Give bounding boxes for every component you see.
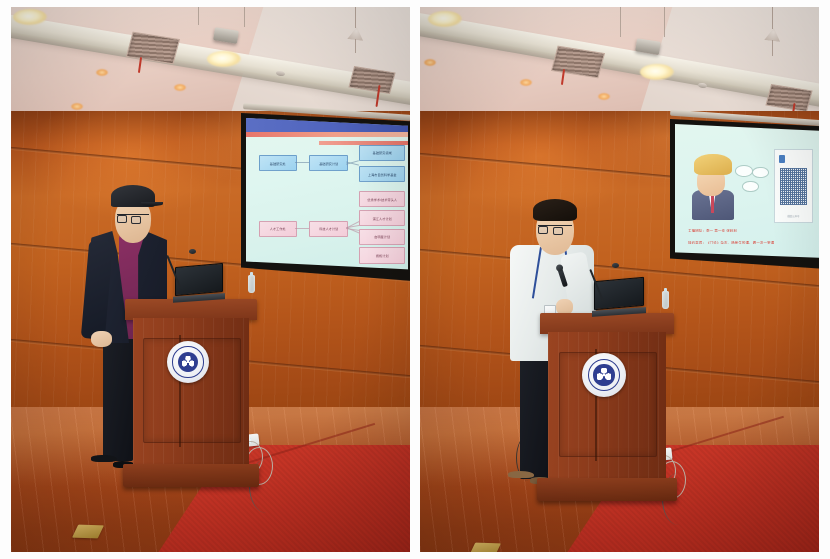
photo-collage: 基础研究处 基础研究计划 基础研究领域 上海市自然科学基金 人才工作处 科技人才… xyxy=(0,0,830,559)
projection-screen-frame: 微信公众号 主播团队：李一 章一佳 张利利 特约嘉宾：《门诊》杂志、杨医生的课、… xyxy=(670,119,819,269)
cartoon-hair xyxy=(694,154,732,174)
diagram-leaf-blue-2: 上海市自然科学基金 xyxy=(359,166,405,182)
diagram-leaf-pink-1: 优秀学术/技术带头人 xyxy=(359,191,405,207)
podium-right xyxy=(548,313,666,501)
podium-body xyxy=(133,318,249,465)
projection-screen-frame: 基础研究处 基础研究计划 基础研究领域 上海市自然科学基金 人才工作处 科技人才… xyxy=(241,113,410,281)
cartoon-tie xyxy=(711,194,714,213)
glasses-lens xyxy=(538,226,548,234)
podium-emblem xyxy=(167,341,209,383)
gooseneck-microphone-left xyxy=(177,243,209,285)
diagram-node-root-blue: 基础研究处 xyxy=(259,155,297,171)
diagram-leaf-pink-4: 扬帆计划 xyxy=(359,247,405,263)
speech-bubble xyxy=(752,167,769,179)
diagram-node-mid-pink: 科技人才计划 xyxy=(309,221,348,237)
slide-flow-diagram: 基础研究处 基础研究计划 基础研究领域 上海市自然科学基金 人才工作处 科技人才… xyxy=(246,118,408,274)
downlight-icon xyxy=(207,51,241,67)
cap-brim xyxy=(141,202,163,206)
diagram-leaf-pink-3: 启明星计划 xyxy=(359,229,405,245)
glasses-lens xyxy=(117,215,127,223)
hanger-wire xyxy=(620,7,621,37)
slide-accent-rule xyxy=(246,132,408,137)
podium-top xyxy=(540,313,675,334)
podium-top xyxy=(125,299,257,320)
hanger-wire xyxy=(664,7,665,37)
diagram-connector xyxy=(295,228,310,229)
diagram-leaf-blue-1: 基础研究领域 xyxy=(359,145,405,161)
floor-outlet-box xyxy=(469,543,501,552)
hanger-wire xyxy=(772,40,773,56)
mic-head xyxy=(189,249,196,254)
diagram-node-mid-blue: 基础研究计划 xyxy=(309,155,348,171)
slide-caption-guests: 特约嘉宾：《门诊》杂志、杨医生的课、看一次一堂课 xyxy=(688,241,814,244)
ceiling-projector-icon xyxy=(213,27,239,44)
podium-base xyxy=(123,464,260,487)
glasses-lens xyxy=(553,227,563,235)
slide-header-band xyxy=(246,118,408,132)
downlight-icon xyxy=(598,93,610,100)
qr-card-footer: 微信公众号 xyxy=(778,214,809,219)
slide-cartoon-qr: 微信公众号 主播团队：李一 章一佳 张利利 特约嘉宾：《门诊》杂志、杨医生的课、… xyxy=(675,124,819,262)
mic-head xyxy=(612,263,619,268)
downlight-icon xyxy=(428,11,462,27)
hanger-wire xyxy=(198,7,199,25)
slide-caption-hosts: 主播团队：李一 章一佳 张利利 xyxy=(688,229,808,232)
hanger-wire xyxy=(355,7,356,28)
downlight-icon xyxy=(13,9,47,25)
qr-code-icon xyxy=(780,168,807,205)
shoe xyxy=(508,471,534,478)
ceiling-right xyxy=(420,7,819,125)
emblem-core xyxy=(593,364,614,385)
diagram-connector xyxy=(295,162,310,163)
hvac-vent-icon xyxy=(126,32,180,65)
downlight-icon xyxy=(174,84,186,91)
speech-bubble xyxy=(742,181,759,193)
downlight-icon xyxy=(520,79,532,86)
downlight-icon xyxy=(71,103,83,110)
shoe xyxy=(91,455,117,462)
qr-card: 微信公众号 xyxy=(774,149,813,223)
glasses-lens xyxy=(131,216,141,224)
glasses-icon xyxy=(538,225,572,226)
glasses-icon xyxy=(117,214,149,215)
floor-outlet-box xyxy=(72,525,104,539)
water-bottle-right xyxy=(662,291,669,309)
diagram-leaf-pink-2: 浦江人才计划 xyxy=(359,210,405,226)
photo-right: 微信公众号 主播团队：李一 章一佳 张利利 特约嘉宾：《门诊》杂志、杨医生的课、… xyxy=(420,7,819,552)
hair xyxy=(533,199,577,221)
cartoon-figure-icon xyxy=(694,154,732,217)
legs xyxy=(103,333,133,461)
hanger-wire xyxy=(772,7,773,29)
downlight-icon xyxy=(424,59,436,66)
podium-left xyxy=(133,299,249,487)
hanger-wire xyxy=(355,39,356,53)
downlight-icon xyxy=(640,64,674,80)
wechat-logo-icon xyxy=(779,155,786,163)
water-bottle-left xyxy=(248,275,255,293)
hand-left xyxy=(91,331,112,347)
emblem-core xyxy=(178,352,198,372)
gooseneck-microphone-right xyxy=(600,257,632,299)
hanger-wire xyxy=(244,7,245,27)
speech-bubble xyxy=(735,165,753,177)
diagram-node-root-pink: 人才工作处 xyxy=(259,221,297,237)
ceiling-left xyxy=(11,7,410,125)
downlight-icon xyxy=(96,69,108,76)
podium-base xyxy=(537,478,676,501)
podium-emblem xyxy=(582,353,626,397)
photo-left: 基础研究处 基础研究计划 基础研究领域 上海市自然科学基金 人才工作处 科技人才… xyxy=(11,7,410,552)
